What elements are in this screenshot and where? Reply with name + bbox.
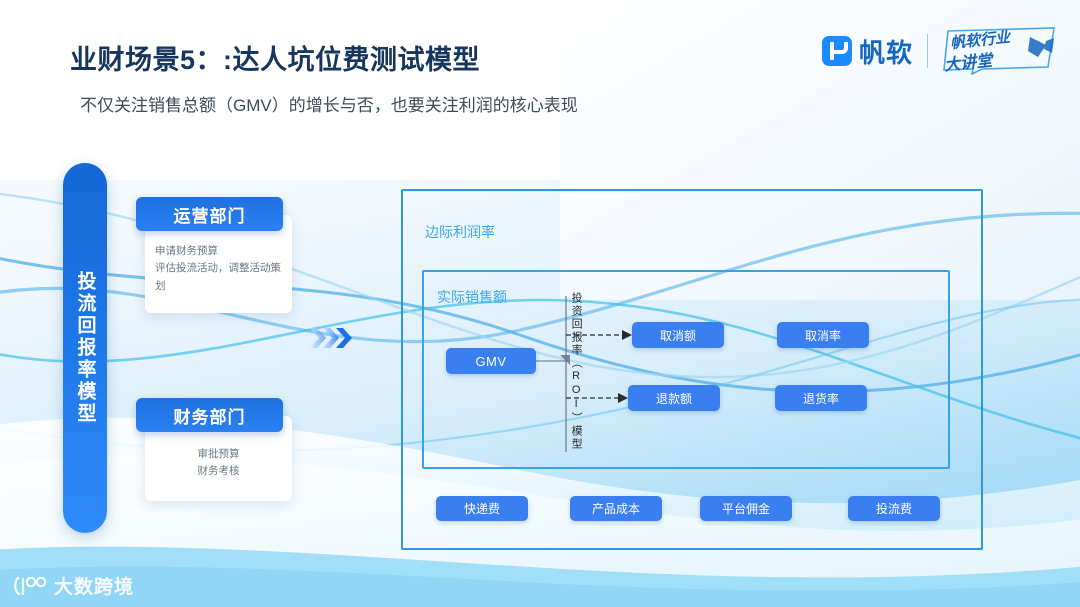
model-sidebar-label: 投流回报率模型 [63,248,107,448]
flow-node-cancel-amount[interactable]: 取消额 [632,322,724,348]
brand-logo: 帆软 帆软行业 大讲堂 [822,26,1060,76]
flow-node-return-rate[interactable]: 退货率 [775,385,867,411]
actual-sales-label: 实际销售额 [437,287,507,307]
department-card-title: 运营部门 [136,197,283,231]
logo-divider [927,34,928,68]
flow-node-cancel-rate[interactable]: 取消率 [777,322,869,348]
department-card-operations[interactable]: 运营部门 申请财务预算 评估投流活动，调整活动策划 [145,215,292,313]
cost-node-commission[interactable]: 平台佣金 [700,496,792,521]
flow-node-refund-amount[interactable]: 退款额 [628,385,720,411]
dashu-logo-icon [14,575,48,597]
program-badge: 帆软行业 大讲堂 [942,27,1060,75]
triple-chevron-right-icon [310,328,352,348]
cost-node-product[interactable]: 产品成本 [570,496,662,521]
cost-node-ads[interactable]: 投流费 [848,496,940,521]
page-title: 业财场景5：:达人坑位费测试模型 [70,38,480,77]
cost-node-express[interactable]: 快递费 [436,496,528,521]
margin-profit-label: 边际利润率 [425,222,495,242]
watermark: 大数跨境 [14,572,134,599]
page-subtitle: 不仅关注销售总额（GMV）的增长与否，也要关注利润的核心表现 [80,91,578,116]
brand-name: 帆软 [859,33,913,70]
roi-model-label: 投资回报率（ROI）模型 [570,292,582,451]
fanruan-logo-icon [822,36,852,66]
badge-line-2: 大讲堂 [943,47,993,76]
megaphone-icon [1028,37,1046,57]
watermark-text: 大数跨境 [54,572,134,599]
slide-canvas: 业财场景5：:达人坑位费测试模型 不仅关注销售总额（GMV）的增长与否，也要关注… [0,0,1080,607]
department-card-finance[interactable]: 财务部门 审批预算 财务考核 [145,416,292,501]
department-card-title: 财务部门 [136,398,283,432]
model-sidebar: 投流回报率模型 [63,163,107,533]
flow-node-gmv[interactable]: GMV [446,348,536,374]
